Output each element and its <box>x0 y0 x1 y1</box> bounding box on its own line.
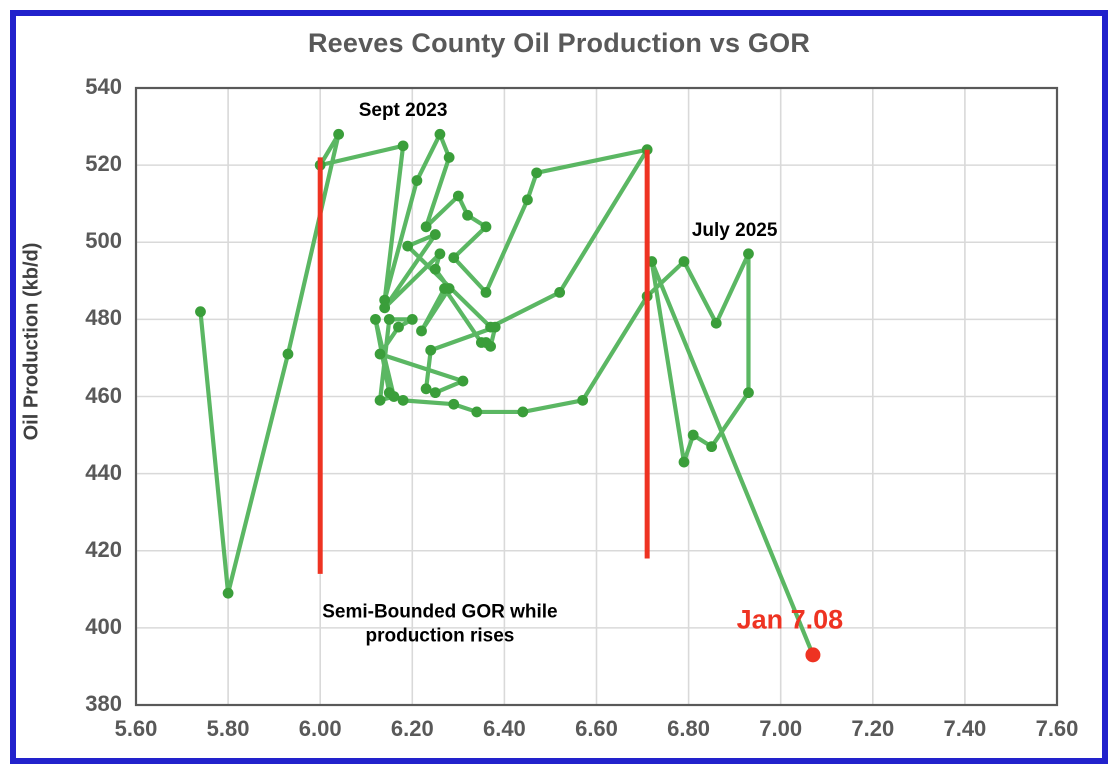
data-point[interactable] <box>462 210 473 221</box>
y-axis-tick-label: 520 <box>52 151 122 177</box>
data-point[interactable] <box>471 407 482 418</box>
y-axis-tick-label: 420 <box>52 537 122 563</box>
highlight-point-jan[interactable] <box>805 647 820 662</box>
data-point[interactable] <box>398 140 409 151</box>
y-axis-tick-label: 480 <box>52 305 122 331</box>
data-point[interactable] <box>375 349 386 360</box>
y-axis-tick-label: 440 <box>52 460 122 486</box>
annotation-sept-2023: Sept 2023 <box>359 99 448 123</box>
data-point[interactable] <box>435 129 446 140</box>
data-point[interactable] <box>195 306 206 317</box>
data-point[interactable] <box>688 430 699 441</box>
data-point[interactable] <box>453 191 464 202</box>
data-point[interactable] <box>370 314 381 325</box>
data-point[interactable] <box>481 287 492 298</box>
x-axis-tick-label: 6.20 <box>367 716 457 742</box>
data-point[interactable] <box>522 194 533 205</box>
data-point[interactable] <box>430 229 441 240</box>
data-point[interactable] <box>485 341 496 352</box>
x-axis-tick-label: 5.60 <box>91 716 181 742</box>
data-point[interactable] <box>407 314 418 325</box>
x-axis-tick-label: 7.20 <box>828 716 918 742</box>
data-point[interactable] <box>430 264 441 275</box>
data-point[interactable] <box>531 167 542 178</box>
data-point[interactable] <box>679 457 690 468</box>
data-point[interactable] <box>743 248 754 259</box>
x-axis-tick-label: 5.80 <box>183 716 273 742</box>
data-point[interactable] <box>444 152 455 163</box>
data-point[interactable] <box>706 441 717 452</box>
data-point[interactable] <box>416 326 427 337</box>
data-point[interactable] <box>393 322 404 333</box>
data-point[interactable] <box>711 318 722 329</box>
annotation-jan-708: Jan 7.08 <box>737 605 844 636</box>
x-axis-tick-label: 6.00 <box>275 716 365 742</box>
x-axis-tick-label: 7.60 <box>1012 716 1102 742</box>
data-point[interactable] <box>375 395 386 406</box>
data-point[interactable] <box>679 256 690 267</box>
data-point[interactable] <box>384 314 395 325</box>
data-line <box>200 134 812 655</box>
y-axis-tick-label: 400 <box>52 614 122 640</box>
data-points <box>195 129 818 660</box>
data-point[interactable] <box>439 283 450 294</box>
plot-area <box>0 0 1118 774</box>
data-point[interactable] <box>490 322 501 333</box>
y-axis-tick-label: 460 <box>52 383 122 409</box>
data-point[interactable] <box>577 395 588 406</box>
chart-screenshot: Reeves County Oil Production vs GOR Oil … <box>0 0 1118 774</box>
data-point[interactable] <box>458 376 469 387</box>
data-point[interactable] <box>554 287 565 298</box>
data-point[interactable] <box>223 588 234 599</box>
data-point[interactable] <box>430 387 441 398</box>
data-point[interactable] <box>412 175 423 186</box>
x-axis-tick-label: 6.40 <box>459 716 549 742</box>
data-point[interactable] <box>743 387 754 398</box>
y-axis-tick-label: 500 <box>52 228 122 254</box>
annotation-july-2025: July 2025 <box>692 219 778 243</box>
data-point[interactable] <box>421 383 432 394</box>
annotation-semi-bounded-gor: Semi-Bounded GOR while production rises <box>322 600 557 648</box>
data-point[interactable] <box>481 221 492 232</box>
data-point[interactable] <box>517 407 528 418</box>
x-axis-tick-label: 6.60 <box>552 716 642 742</box>
data-point[interactable] <box>283 349 294 360</box>
x-axis-tick-label: 7.00 <box>736 716 826 742</box>
data-point[interactable] <box>448 399 459 410</box>
data-point[interactable] <box>425 345 436 356</box>
y-axis-tick-label: 540 <box>52 74 122 100</box>
y-axis-tick-label: 380 <box>52 691 122 717</box>
data-point[interactable] <box>421 221 432 232</box>
data-point[interactable] <box>435 248 446 259</box>
data-point[interactable] <box>333 129 344 140</box>
x-axis-tick-label: 6.80 <box>644 716 734 742</box>
data-point[interactable] <box>448 252 459 263</box>
data-point[interactable] <box>402 241 413 252</box>
gridlines <box>136 88 1057 705</box>
data-point[interactable] <box>398 395 409 406</box>
data-point[interactable] <box>379 302 390 313</box>
x-axis-tick-label: 7.40 <box>920 716 1010 742</box>
data-point[interactable] <box>384 387 395 398</box>
